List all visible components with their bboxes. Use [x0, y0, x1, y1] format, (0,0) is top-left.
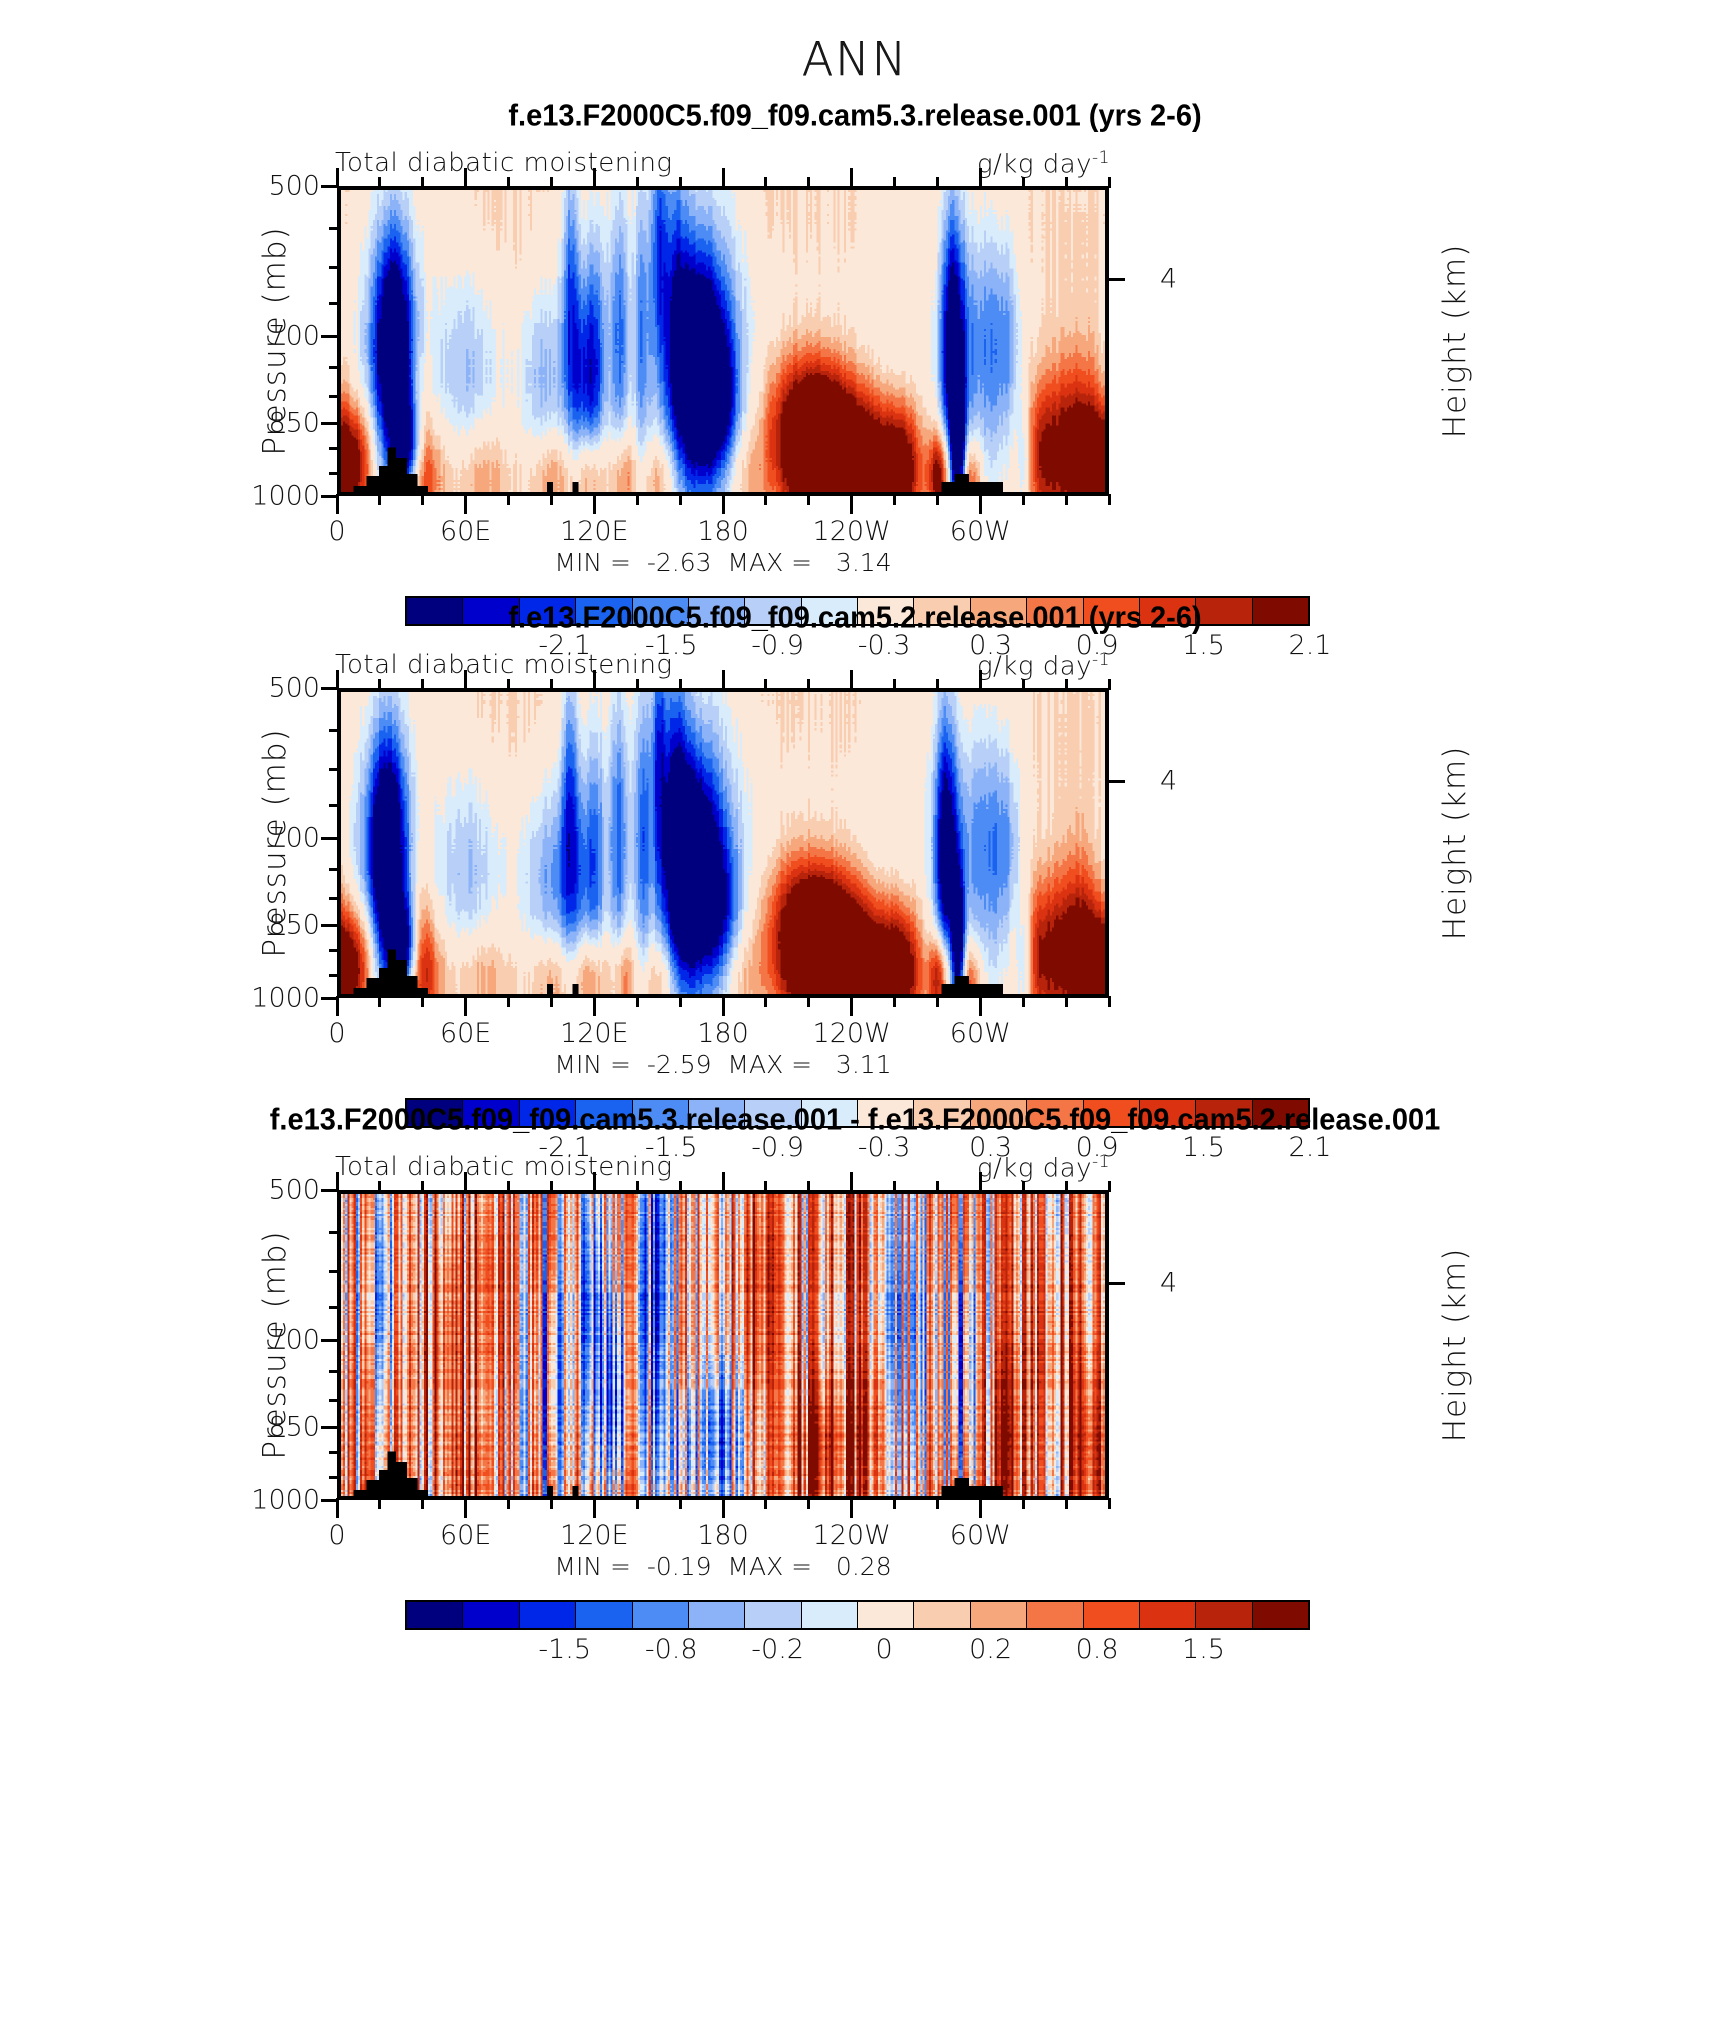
y-tick — [329, 266, 339, 269]
x-tick — [593, 670, 596, 690]
x-tick — [893, 1498, 896, 1509]
x-tick — [1108, 996, 1111, 1007]
panel-1-title: f.e13.F2000C5.f09_f09.cam5.2.release.001… — [0, 601, 1710, 635]
panel-2-title: f.e13.F2000C5.f09_f09.cam5.3.release.001… — [0, 1103, 1710, 1137]
x-tick-label: 0 — [328, 1520, 345, 1551]
panel-0-variable-label: Total diabatic moistening — [335, 148, 673, 178]
x-tick — [636, 679, 639, 690]
y-tick-label: 1000 — [251, 481, 320, 512]
x-tick — [936, 1181, 939, 1192]
x-tick — [764, 177, 767, 188]
x-tick — [1065, 679, 1068, 690]
x-tick — [979, 670, 982, 690]
x-tick — [507, 679, 510, 690]
x-tick — [550, 1181, 553, 1192]
y-tick-label: 1000 — [251, 1485, 320, 1516]
x-tick-label: 60W — [950, 1018, 1011, 1049]
panel-1-variable-label: Total diabatic moistening — [335, 650, 673, 680]
y-tick — [321, 1189, 339, 1192]
panel-0-y-axis-title: Pressure (mb) — [257, 226, 293, 455]
x-tick — [722, 1172, 725, 1192]
x-tick-label: 180 — [697, 1018, 749, 1049]
height-tick-label: 4 — [1160, 264, 1177, 295]
x-tick — [807, 996, 810, 1007]
x-tick — [636, 1498, 639, 1509]
x-tick — [679, 679, 682, 690]
x-tick — [807, 494, 810, 505]
panel-1-y-axis-title: Pressure (mb) — [257, 728, 293, 957]
x-tick — [507, 996, 510, 1007]
panel-0-title: f.e13.F2000C5.f09_f09.cam5.3.release.001… — [0, 99, 1710, 133]
x-tick — [893, 494, 896, 505]
x-tick — [893, 1181, 896, 1192]
y-tick — [321, 1339, 339, 1342]
y-tick-label: 1000 — [251, 983, 320, 1014]
x-tick — [378, 1498, 381, 1509]
x-tick — [593, 996, 596, 1016]
y-tick — [329, 768, 339, 771]
x-tick — [1065, 177, 1068, 188]
x-tick — [1065, 1498, 1068, 1509]
x-tick — [636, 494, 639, 505]
x-tick — [936, 494, 939, 505]
panel-0-y-axis-title-right: Height (km) — [1437, 244, 1473, 439]
x-tick — [636, 996, 639, 1007]
x-tick — [979, 1172, 982, 1192]
y-tick — [321, 924, 339, 927]
x-tick — [421, 177, 424, 188]
x-tick-label: 60W — [950, 516, 1011, 547]
x-tick — [807, 679, 810, 690]
y-tick — [329, 1476, 339, 1479]
x-tick-label: 0 — [328, 516, 345, 547]
x-tick — [979, 168, 982, 188]
x-tick — [1065, 996, 1068, 1007]
x-tick-label: 120W — [813, 1018, 891, 1049]
x-tick — [1022, 996, 1025, 1007]
panel-minmax-text: MIN = -2.63 MAX = 3.14 — [337, 548, 1109, 577]
x-tick — [550, 494, 553, 505]
x-tick-label: 60W — [950, 1520, 1011, 1551]
x-tick — [936, 177, 939, 188]
x-tick — [850, 494, 853, 514]
x-tick — [378, 494, 381, 505]
y-tick — [329, 472, 339, 475]
colorbar-cell — [407, 1602, 463, 1628]
x-tick — [378, 177, 381, 188]
x-tick — [1065, 1181, 1068, 1192]
x-tick — [722, 168, 725, 188]
y-tick — [321, 422, 339, 425]
y-tick — [321, 1499, 339, 1502]
colorbar-cell — [1253, 1602, 1308, 1628]
y-tick — [321, 997, 339, 1000]
x-tick — [421, 1181, 424, 1192]
y-tick-label: 500 — [268, 171, 320, 202]
colorbar-cell — [689, 1602, 745, 1628]
y-tick — [329, 974, 339, 977]
x-tick — [1022, 494, 1025, 505]
height-tick-label: 4 — [1160, 766, 1177, 797]
x-tick — [507, 1181, 510, 1192]
x-tick — [1108, 1181, 1111, 1192]
x-tick — [679, 177, 682, 188]
y-tick — [1107, 278, 1125, 281]
y-tick — [1107, 1282, 1125, 1285]
x-tick — [893, 679, 896, 690]
panel-0-plot-area — [337, 186, 1109, 496]
y-tick — [321, 185, 339, 188]
colorbar-tick-label: -1.5 — [538, 1634, 591, 1665]
x-tick — [764, 679, 767, 690]
y-tick — [321, 335, 339, 338]
figure-page: ANN f.e13.F2000C5.f09_f09.cam5.3.release… — [0, 0, 1710, 2038]
panel-2-colorbar: -1.5-0.8-0.200.20.81.5 — [405, 1600, 1310, 1670]
x-tick — [1022, 679, 1025, 690]
y-tick — [329, 804, 339, 807]
x-tick — [550, 177, 553, 188]
x-tick-label: 120E — [560, 516, 629, 547]
x-tick — [807, 1498, 810, 1509]
y-tick — [329, 949, 339, 952]
x-tick — [807, 1181, 810, 1192]
y-tick — [329, 868, 339, 871]
x-tick-label: 120E — [560, 1018, 629, 1049]
x-tick — [593, 1172, 596, 1192]
x-tick — [378, 996, 381, 1007]
x-tick-label: 60E — [440, 516, 491, 547]
x-tick — [979, 996, 982, 1016]
colorbar-tick-label: -0.8 — [645, 1634, 698, 1665]
y-tick-label: 500 — [268, 673, 320, 704]
y-tick — [1107, 780, 1125, 783]
y-tick — [329, 395, 339, 398]
y-tick — [329, 302, 339, 305]
x-tick — [636, 177, 639, 188]
panel-2-plot-area — [337, 1190, 1109, 1500]
y-tick — [321, 837, 339, 840]
x-tick — [550, 1498, 553, 1509]
y-tick — [329, 1370, 339, 1373]
x-tick-label: 60E — [440, 1520, 491, 1551]
colorbar-cell — [1140, 1602, 1196, 1628]
panel-2-units-label: g/kg day-1 — [977, 1152, 1110, 1184]
x-tick — [850, 670, 853, 690]
x-tick — [936, 679, 939, 690]
x-tick — [764, 1498, 767, 1509]
x-tick — [464, 1498, 467, 1518]
panel-1-y-axis-title-right: Height (km) — [1437, 746, 1473, 941]
panel-1-plot-area — [337, 688, 1109, 998]
x-tick — [679, 1181, 682, 1192]
x-tick-label: 0 — [328, 1018, 345, 1049]
colorbar-cell — [576, 1602, 632, 1628]
colorbar-cell — [1027, 1602, 1083, 1628]
y-tick — [329, 227, 339, 230]
y-tick — [329, 1451, 339, 1454]
x-tick — [936, 996, 939, 1007]
colorbar-cell — [520, 1602, 576, 1628]
x-tick — [1108, 177, 1111, 188]
x-tick — [722, 996, 725, 1016]
figure-super-title: ANN — [0, 32, 1710, 86]
colorbar-cell — [1196, 1602, 1252, 1628]
colorbar-cell — [914, 1602, 970, 1628]
x-tick — [421, 494, 424, 505]
x-tick — [764, 494, 767, 505]
colorbar-cell — [802, 1602, 858, 1628]
x-tick-label: 120E — [560, 1520, 629, 1551]
x-tick — [850, 1498, 853, 1518]
colorbar-tick-label: 0.2 — [969, 1634, 1012, 1665]
y-tick — [329, 366, 339, 369]
colorbar-cell — [971, 1602, 1027, 1628]
x-tick — [593, 168, 596, 188]
panel-2-y-axis-title: Pressure (mb) — [257, 1230, 293, 1459]
panel-minmax-text: MIN = -0.19 MAX = 0.28 — [337, 1552, 1109, 1581]
x-tick — [636, 1181, 639, 1192]
x-tick — [507, 1498, 510, 1509]
x-tick — [464, 1172, 467, 1192]
colorbar-cell — [463, 1602, 519, 1628]
y-tick — [321, 687, 339, 690]
x-tick — [979, 1498, 982, 1518]
x-tick-label: 120W — [813, 516, 891, 547]
x-tick-label: 60E — [440, 1018, 491, 1049]
colorbar-tick-label: 0.8 — [1076, 1634, 1119, 1665]
x-tick — [1022, 177, 1025, 188]
x-tick — [421, 996, 424, 1007]
x-tick — [550, 679, 553, 690]
x-tick — [507, 177, 510, 188]
x-tick — [464, 670, 467, 690]
x-tick — [679, 1498, 682, 1509]
x-tick — [593, 494, 596, 514]
x-tick — [893, 177, 896, 188]
y-tick — [329, 1231, 339, 1234]
y-tick — [329, 1399, 339, 1402]
x-tick — [550, 996, 553, 1007]
panel-2-colorbar-cells — [405, 1600, 1310, 1630]
x-tick — [764, 1181, 767, 1192]
x-tick — [979, 494, 982, 514]
x-tick — [722, 494, 725, 514]
x-tick — [1108, 1498, 1111, 1509]
y-tick — [329, 1306, 339, 1309]
panel-0-units-label: g/kg day-1 — [977, 148, 1110, 180]
x-tick — [1022, 1498, 1025, 1509]
x-tick — [679, 996, 682, 1007]
x-tick — [850, 168, 853, 188]
panel-2-y-axis-title-right: Height (km) — [1437, 1248, 1473, 1443]
colorbar-tick-label: 0 — [876, 1634, 893, 1665]
y-tick — [321, 495, 339, 498]
x-tick — [378, 679, 381, 690]
x-tick — [464, 494, 467, 514]
panel-minmax-text: MIN = -2.59 MAX = 3.11 — [337, 1050, 1109, 1079]
y-tick-label: 500 — [268, 1175, 320, 1206]
y-tick — [329, 729, 339, 732]
x-tick — [507, 494, 510, 505]
x-tick — [722, 1498, 725, 1518]
x-tick — [1108, 494, 1111, 505]
colorbar-cell — [858, 1602, 914, 1628]
x-tick — [936, 1498, 939, 1509]
x-tick — [1022, 1181, 1025, 1192]
panel-2-variable-label: Total diabatic moistening — [335, 1152, 673, 1182]
x-tick — [421, 1498, 424, 1509]
x-tick — [807, 177, 810, 188]
colorbar-cell — [633, 1602, 689, 1628]
x-tick — [421, 679, 424, 690]
colorbar-tick-label: 1.5 — [1182, 1634, 1225, 1665]
panel-1-units-label: g/kg day-1 — [977, 650, 1110, 682]
colorbar-cell — [745, 1602, 801, 1628]
x-tick-label: 180 — [697, 1520, 749, 1551]
x-tick — [1108, 679, 1111, 690]
panel-2-colorbar-labels: -1.5-0.8-0.200.20.81.5 — [405, 1634, 1310, 1670]
x-tick-label: 120W — [813, 1520, 891, 1551]
x-tick — [850, 1172, 853, 1192]
x-tick — [850, 996, 853, 1016]
y-tick — [329, 1270, 339, 1273]
x-tick — [464, 996, 467, 1016]
y-tick — [329, 897, 339, 900]
y-tick — [329, 447, 339, 450]
y-tick — [321, 1426, 339, 1429]
x-tick — [378, 1181, 381, 1192]
height-tick-label: 4 — [1160, 1268, 1177, 1299]
x-tick — [464, 168, 467, 188]
x-tick — [1065, 494, 1068, 505]
x-tick — [593, 1498, 596, 1518]
x-tick — [893, 996, 896, 1007]
colorbar-cell — [1084, 1602, 1140, 1628]
x-tick — [764, 996, 767, 1007]
x-tick — [679, 494, 682, 505]
x-tick — [722, 670, 725, 690]
colorbar-tick-label: -0.2 — [751, 1634, 804, 1665]
x-tick-label: 180 — [697, 516, 749, 547]
